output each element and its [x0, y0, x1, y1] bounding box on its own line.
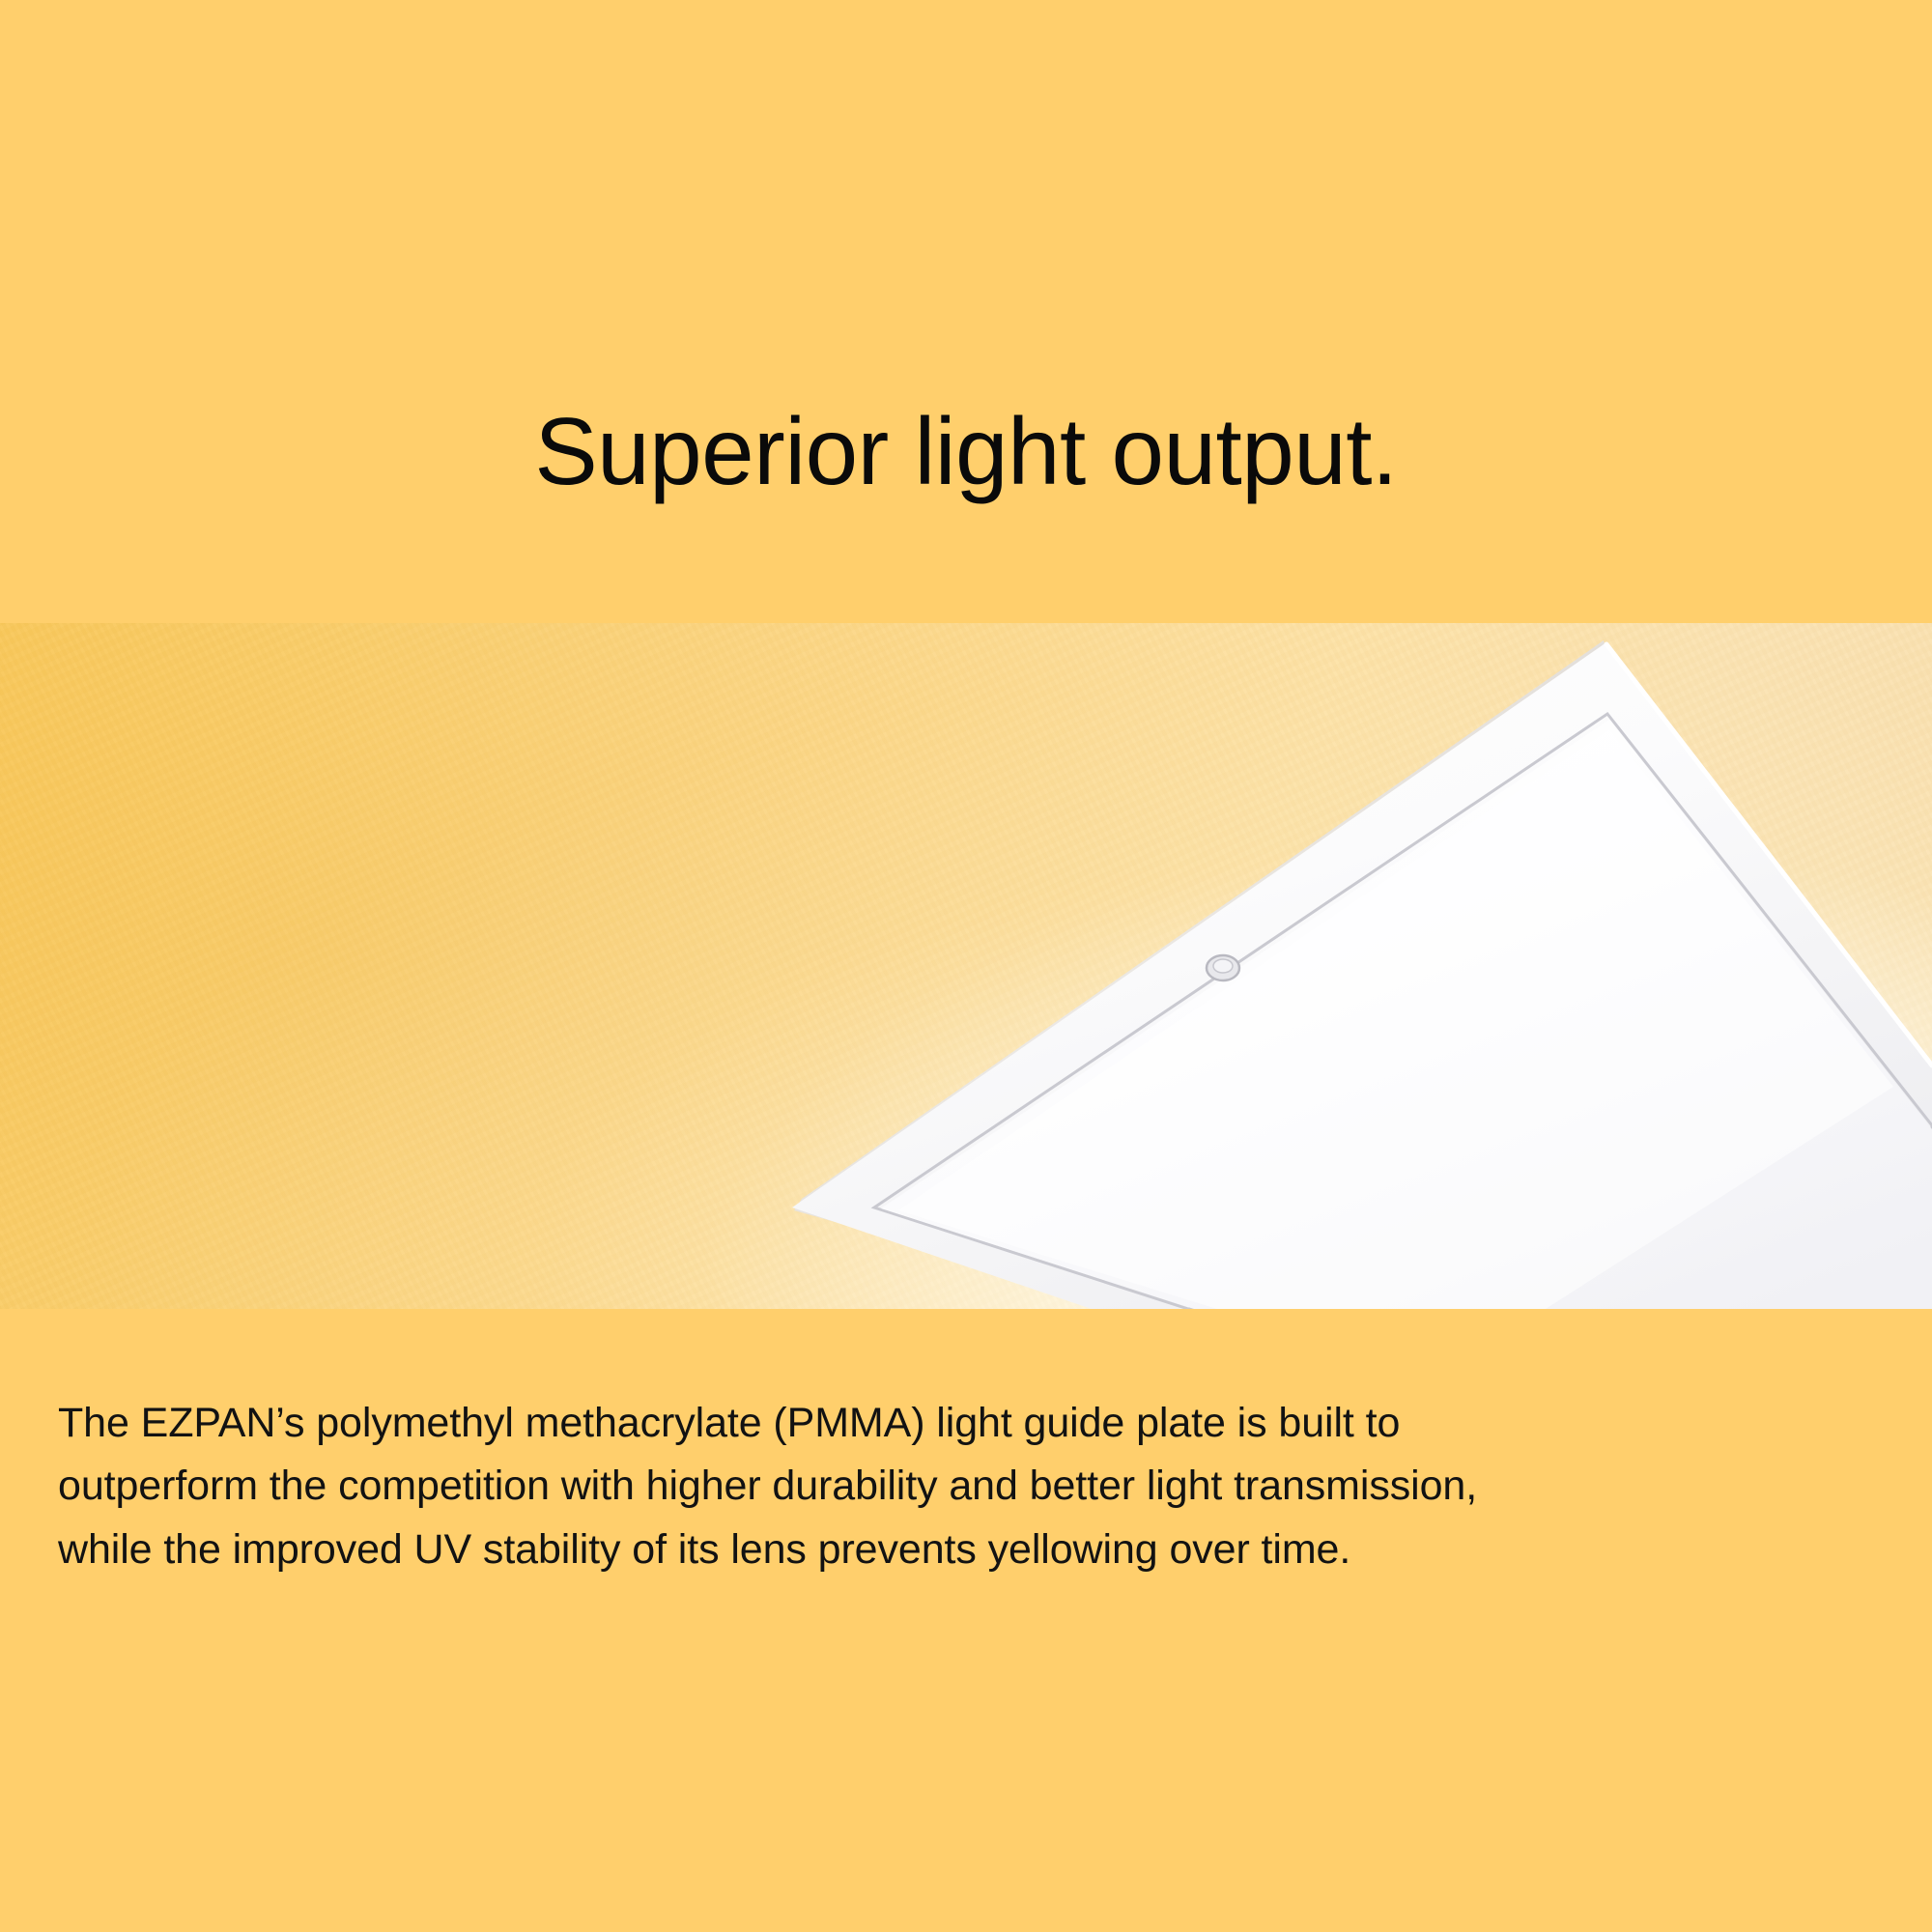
description-line-1: The EZPAN’s polymethyl methacrylate (PMM…: [58, 1392, 1797, 1455]
marketing-slide: Superior light output.: [0, 0, 1932, 1932]
description-line-3: while the improved UV stability of its l…: [58, 1519, 1797, 1581]
description-line-2: outperform the competition with higher d…: [58, 1455, 1797, 1518]
product-photo: [0, 623, 1932, 1309]
panel-sensor-icon: [1207, 955, 1239, 980]
description-text: The EZPAN’s polymethyl methacrylate (PMM…: [58, 1392, 1797, 1581]
description-band: The EZPAN’s polymethyl methacrylate (PMM…: [0, 1309, 1932, 1932]
headline-band: Superior light output.: [0, 0, 1932, 623]
page-title: Superior light output.: [0, 402, 1932, 501]
led-panel-light-graphic: [0, 623, 1932, 1309]
